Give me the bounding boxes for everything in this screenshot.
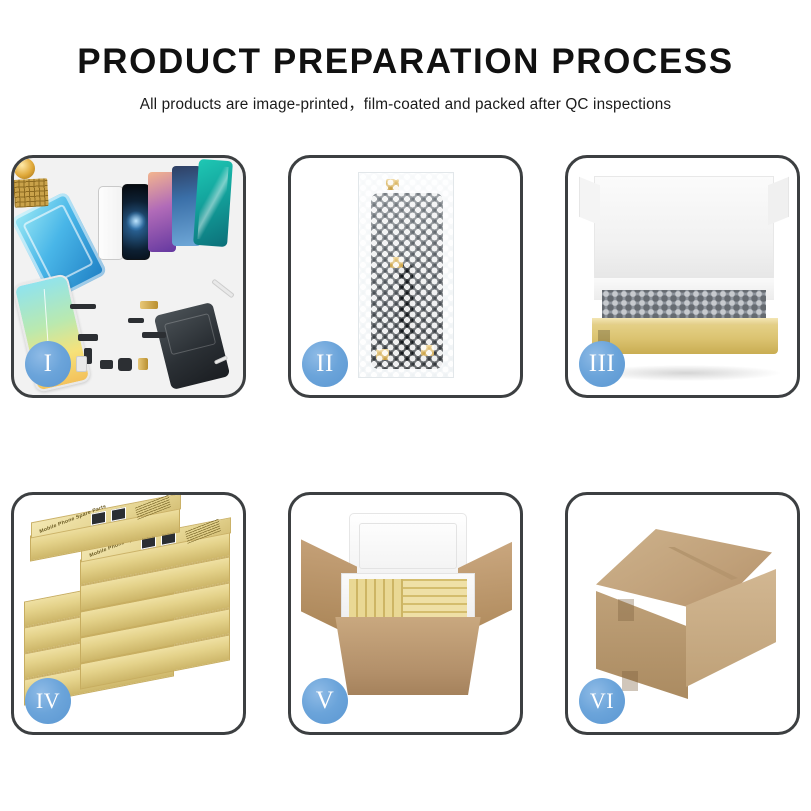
step-ii-illustration: II <box>291 158 520 395</box>
camera-module-part <box>100 360 113 369</box>
gold-boxes-inside <box>349 579 467 619</box>
phone-screen-dark <box>122 184 150 260</box>
foam-box-lid <box>349 513 467 579</box>
step-badge-iii: III <box>579 341 625 387</box>
page-title: PRODUCT PREPARATION PROCESS <box>0 44 811 81</box>
bubble-wrap-bag <box>358 172 454 378</box>
small-flex-part <box>128 318 144 323</box>
step-badge-ii: II <box>302 341 348 387</box>
step-badge-vi: VI <box>579 678 625 724</box>
step-panel-iv: Mobile Phone Spare Parts Mobile Phone Sp… <box>11 492 246 735</box>
carton-body <box>329 617 487 695</box>
step-panel-i: I <box>11 155 246 398</box>
front-glass-panel <box>98 186 124 260</box>
step-badge-v: V <box>302 678 348 724</box>
bubble-texture <box>359 173 453 377</box>
tweezers-tool <box>211 279 235 299</box>
bracket-part <box>78 334 98 341</box>
step-iv-illustration: Mobile Phone Spare Parts Mobile Phone Sp… <box>14 495 243 732</box>
step-badge-iv: IV <box>25 678 71 724</box>
step-v-illustration: V <box>291 495 520 732</box>
step-panel-ii: II <box>288 155 523 398</box>
carton-tape-upper <box>618 599 634 621</box>
step-badge-i: I <box>25 341 71 387</box>
steps-grid: I II <box>11 155 800 735</box>
gold-connector-part <box>140 301 158 309</box>
antenna-flex-part <box>142 332 166 338</box>
gold-coil-part <box>14 158 35 179</box>
phone-back-housing <box>154 302 231 390</box>
gold-contact-part <box>138 358 148 370</box>
speaker-part <box>118 358 132 371</box>
step-panel-vi: VI <box>565 492 800 735</box>
header: PRODUCT PREPARATION PROCESS All products… <box>0 0 811 114</box>
sim-tray-part <box>76 356 87 372</box>
page-subtitle: All products are image-printed，film-coat… <box>0 92 811 114</box>
flex-strip-part <box>70 304 96 309</box>
step-i-illustration: I <box>14 158 243 395</box>
mailer-box-lid <box>594 176 774 288</box>
chip-grid-part <box>14 178 49 208</box>
step-panel-v: V <box>288 492 523 735</box>
step-panel-iii: III <box>565 155 800 398</box>
product-preparation-infographic: PRODUCT PREPARATION PROCESS All products… <box>0 0 811 811</box>
step-iii-illustration: III <box>568 158 797 395</box>
step-vi-illustration: VI <box>568 495 797 732</box>
phone-screen-teal <box>193 159 233 247</box>
carton-tape-lower <box>622 671 638 691</box>
